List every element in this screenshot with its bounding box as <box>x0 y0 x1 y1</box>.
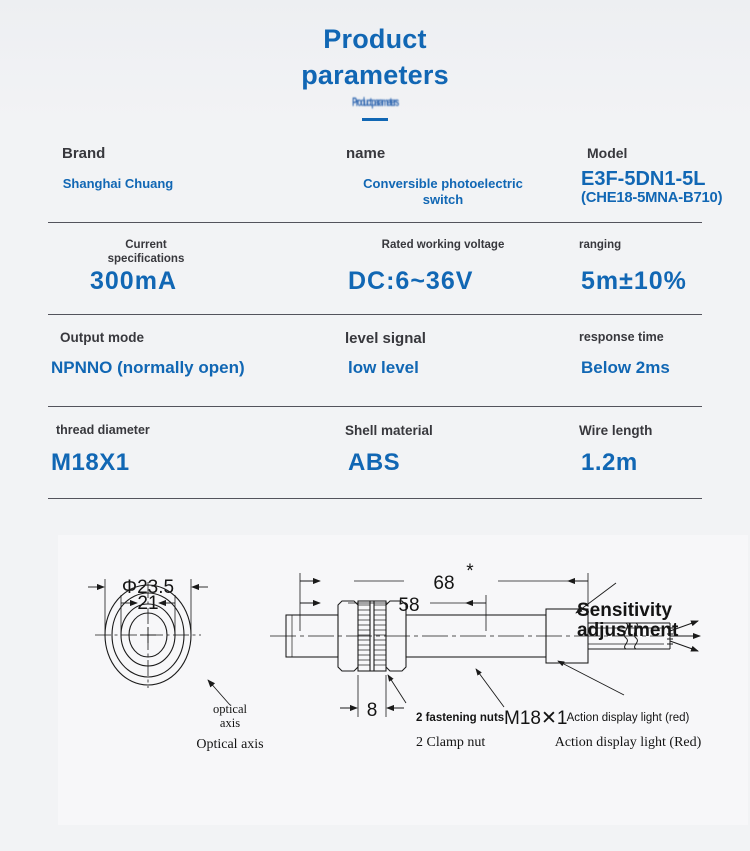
knurl-hatching <box>358 605 386 665</box>
spec-label: ranging <box>579 223 699 252</box>
spec-label: name <box>298 131 523 164</box>
spec-value: NPNNO (normally open) <box>51 358 298 378</box>
dim-label-nut: 8 <box>367 700 378 721</box>
spec-value: ABS <box>348 449 523 477</box>
spec-cell-level-signal: level signal low level <box>298 315 523 349</box>
spec-value: Shanghai Chuang <box>48 176 188 192</box>
spec-cell-output-mode: Output mode NPNNO (normally open) <box>48 315 298 347</box>
spec-value: E3F-5DN1-5L (CHE18-5MNA-B710) <box>581 169 750 207</box>
spec-label: Shell material <box>298 407 523 440</box>
spec-label: Current specifications <box>86 223 206 267</box>
spec-value: M18X1 <box>51 449 298 477</box>
dim-label-total-mark: * <box>466 561 474 582</box>
drawing-svg: Φ23.5 21 68 * 58 8 optical axis Optical … <box>58 535 748 825</box>
spec-value-sub: (CHE18-5MNA-B710) <box>581 191 750 207</box>
sensitivity-label-line1: Sensitivity <box>577 600 672 621</box>
table-row: Output mode NPNNO (normally open) level … <box>48 315 702 407</box>
spec-cell-name: name Conversible photoelectric switch <box>298 131 523 164</box>
spec-cell-current: Current specifications 300mA <box>48 223 298 267</box>
spec-value: 300mA <box>90 267 298 296</box>
spec-cell-shell-material: Shell material ABS <box>298 407 523 440</box>
optical-axis-small-label-line2: axis <box>220 716 240 730</box>
thread-leader <box>476 669 504 707</box>
table-row: Current specifications 300mA Rated worki… <box>48 223 702 315</box>
page-title: Product parameters <box>280 22 470 93</box>
spec-label: response time <box>523 315 702 346</box>
header-title-block: Product parameters Product parameters <box>0 22 750 121</box>
spec-label: Output mode <box>48 315 298 347</box>
action-light-label: Action display light (Red) <box>555 735 702 750</box>
spec-cell-voltage: Rated working voltage DC:6~36V <box>298 223 523 252</box>
technical-drawing: Φ23.5 21 68 * 58 8 optical axis Optical … <box>58 535 748 825</box>
spec-label: Brand <box>48 131 298 164</box>
thread-label: M18✕1 <box>504 708 567 729</box>
specification-table: Brand Shanghai Chuang name Conversible p… <box>48 131 702 499</box>
dim-label-inner: 21 <box>137 593 158 614</box>
dim-label-total: 68 <box>433 573 454 594</box>
spec-cell-model: Model E3F-5DN1-5L (CHE18-5MNA-B710) <box>523 131 702 163</box>
clamp-nut-label: 2 Clamp nut <box>416 735 485 750</box>
spec-value: Below 2ms <box>581 358 702 378</box>
spec-value: 5m±10% <box>581 267 702 296</box>
optical-axis-small-label-line1: optical <box>213 702 248 716</box>
fastening-nuts-leader <box>388 675 406 703</box>
spec-value: low level <box>348 358 523 378</box>
fastening-nuts-label: 2 fastening nuts <box>416 712 504 724</box>
side-view-extension-lines <box>300 573 588 717</box>
page-title-line1: Product <box>280 22 470 58</box>
title-underline-rule <box>362 118 388 121</box>
page-title-line2: parameters <box>280 58 470 94</box>
spec-label: Model <box>523 131 702 163</box>
table-row: Brand Shanghai Chuang name Conversible p… <box>48 131 702 223</box>
action-light-small-label: Action display light (red) <box>567 712 690 724</box>
spec-cell-ranging: ranging 5m±10% <box>523 223 702 252</box>
dim-label-body: 58 <box>398 595 419 616</box>
spec-value-main: E3F-5DN1-5L <box>581 168 705 190</box>
spec-cell-wire-length: Wire length 1.2m <box>523 407 702 440</box>
spec-label: Wire length <box>523 407 702 440</box>
optical-axis-label: Optical axis <box>196 737 263 752</box>
spec-label: thread diameter <box>48 407 298 439</box>
table-row: thread diameter M18X1 Shell material ABS… <box>48 407 702 499</box>
spec-label: Rated working voltage <box>343 223 543 252</box>
page-header: Product parameters Product parameters <box>0 0 750 122</box>
action-light-leader <box>558 661 624 695</box>
spec-value: Conversible photoelectric switch <box>343 176 543 209</box>
spec-cell-thread-diameter: thread diameter M18X1 <box>48 407 298 439</box>
page-subtitle: Product parameters <box>143 95 608 109</box>
spec-value: DC:6~36V <box>348 267 523 296</box>
spec-value: 1.2m <box>581 449 702 477</box>
spec-label: level signal <box>298 315 523 349</box>
sensitivity-label-line2: adjustment <box>577 620 679 641</box>
spec-cell-response-time: response time Below 2ms <box>523 315 702 346</box>
spec-cell-brand: Brand Shanghai Chuang <box>48 131 298 164</box>
